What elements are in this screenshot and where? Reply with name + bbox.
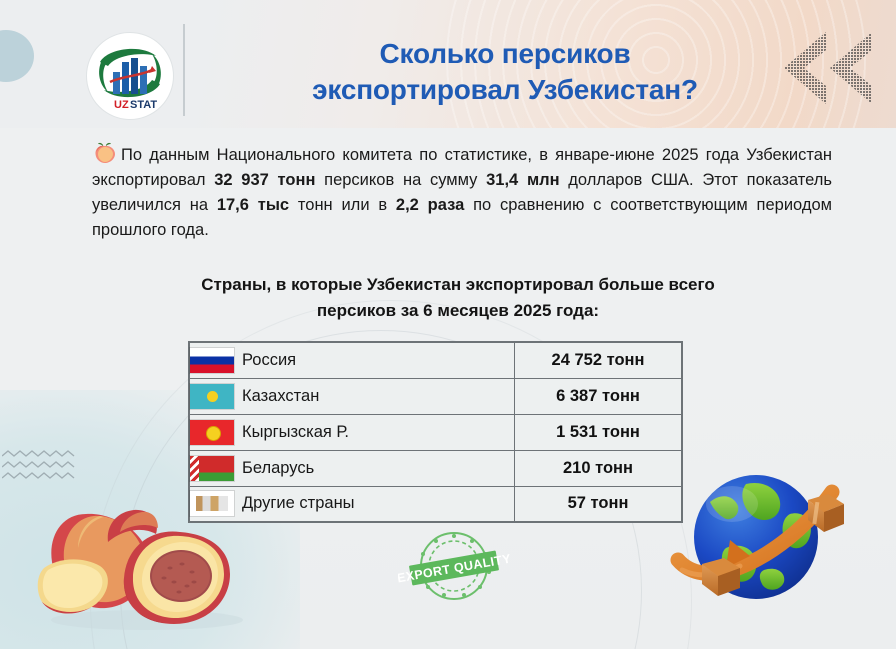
uzstat-logo: UZ STAT	[86, 32, 174, 120]
svg-text:STAT: STAT	[130, 99, 157, 111]
globe-with-arrows-illustration	[668, 452, 858, 612]
country-name: Казахстан	[242, 387, 319, 406]
page-title-line2: экспортировал Узбекистан?	[225, 72, 785, 108]
paragraph-text-4: тонн или в	[289, 196, 396, 214]
flag-belarus-icon	[190, 456, 234, 481]
value-cell: 57 тонн	[515, 486, 683, 522]
country-name: Беларусь	[242, 459, 314, 478]
infographic-page: UZ STAT Сколько персиков экспортировал У…	[0, 0, 896, 649]
intro-paragraph: По данным Национального комитета по стат…	[92, 142, 832, 243]
stamp-text: EXPORT QUALITY	[398, 552, 510, 586]
page-title: Сколько персиков экспортировал Узбекиста…	[225, 36, 785, 109]
flag-kyrgyzstan-icon	[190, 420, 234, 445]
table-heading-line2: персиков за 6 месяцев 2025 года:	[317, 301, 599, 320]
svg-text:UZ: UZ	[114, 99, 129, 111]
paragraph-text-2: персиков на сумму	[315, 171, 486, 189]
table-heading: Страны, в которые Узбекистан экспортиров…	[148, 272, 768, 325]
table-row: Казахстан 6 387 тонн	[189, 378, 682, 414]
peaches-illustration	[34, 492, 260, 632]
double-chevron-left-icon	[782, 28, 874, 108]
paragraph-highlight-usd: 31,4 млн	[486, 171, 559, 189]
country-cell: Беларусь	[189, 450, 515, 486]
paragraph-highlight-tonnes: 32 937 тонн	[214, 171, 315, 189]
value-cell: 210 тонн	[515, 450, 683, 486]
country-cell: Россия	[189, 342, 515, 378]
table-row: Беларусь 210 тонн	[189, 450, 682, 486]
value-cell: 6 387 тонн	[515, 378, 683, 414]
blue-circle-decoration	[0, 30, 34, 82]
table-row: Россия 24 752 тонн	[189, 342, 682, 378]
paragraph-highlight-factor: 2,2 раза	[396, 196, 464, 214]
flag-kazakhstan-icon	[190, 384, 234, 409]
peach-icon	[92, 142, 118, 164]
table-heading-line1: Страны, в которые Узбекистан экспортиров…	[201, 275, 714, 294]
paragraph-highlight-growth: 17,6 тыс	[217, 196, 289, 214]
export-quality-stamp: EXPORT QUALITY	[398, 524, 510, 608]
header-divider	[183, 24, 185, 116]
country-cell: Казахстан	[189, 378, 515, 414]
country-name: Кыргызская Р.	[242, 423, 349, 442]
zigzag-lines-decoration	[2, 450, 80, 484]
value-cell: 24 752 тонн	[515, 342, 683, 378]
flag-russia-icon	[190, 348, 234, 373]
country-cell: Кыргызская Р.	[189, 414, 515, 450]
export-countries-table: Россия 24 752 тонн Казахстан 6 387 тонн …	[188, 341, 683, 523]
table-row: Другие страны 57 тонн	[189, 486, 682, 522]
value-cell: 1 531 тонн	[515, 414, 683, 450]
page-title-line1: Сколько персиков	[380, 38, 631, 69]
table-row: Кыргызская Р. 1 531 тонн	[189, 414, 682, 450]
country-name: Россия	[242, 351, 296, 370]
logo-graphic: UZ STAT	[86, 32, 174, 120]
